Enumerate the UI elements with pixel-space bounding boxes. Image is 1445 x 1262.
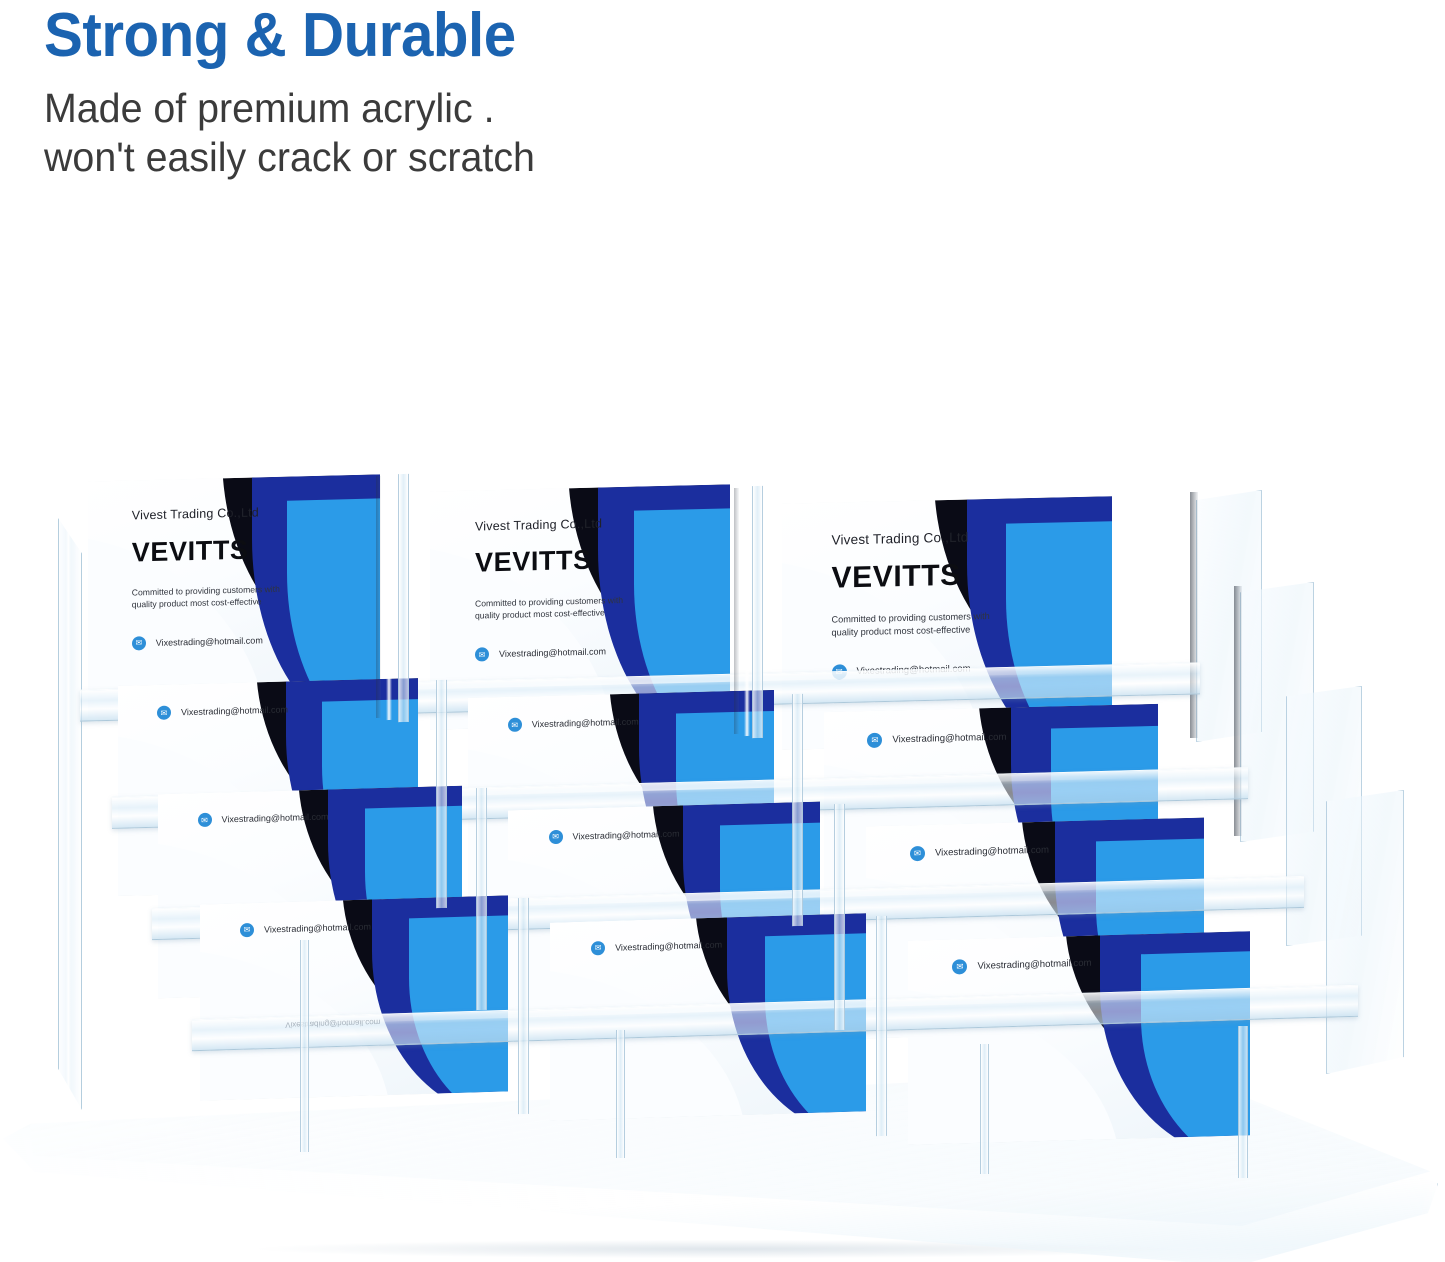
envelope-icon: ✉ bbox=[867, 732, 882, 747]
card-tagline: Committed to providing customers with qu… bbox=[832, 610, 990, 640]
base-support-leg bbox=[980, 1044, 989, 1174]
card-email-row: ✉ Vixestrading@hotmail.com bbox=[910, 843, 1049, 862]
card-email-row: ✉ Vixestrading@hotmail.com bbox=[157, 702, 288, 719]
envelope-icon: ✉ bbox=[549, 829, 563, 843]
headline-block: Strong & Durable Made of premium acrylic… bbox=[44, 4, 944, 182]
page-title: Strong & Durable bbox=[44, 4, 890, 68]
column-divider-fin bbox=[834, 804, 845, 1030]
card-tagline: Committed to providing customers with qu… bbox=[132, 583, 280, 611]
card-email: Vixestrading@hotmail.com bbox=[499, 646, 606, 659]
card-company-name: Vivest Trading Co.,Ltd bbox=[132, 506, 259, 523]
column-divider-fin bbox=[518, 898, 529, 1114]
left-side-panel bbox=[58, 518, 82, 1110]
right-step-panel-4 bbox=[1326, 790, 1404, 1074]
card-email-row: ✉ Vixestrading@hotmail.com bbox=[591, 937, 722, 955]
card-text-layer: ✉ Vixestrading@hotmail.com bbox=[200, 895, 508, 1100]
card-email-row: ✉ Vixestrading@hotmail.com bbox=[475, 644, 606, 661]
card-tagline: Committed to providing customers with qu… bbox=[475, 594, 623, 622]
card-email-row: ✉ Vixestrading@hotmail.com bbox=[198, 810, 329, 828]
card-email: Vixestrading@hotmail.com bbox=[532, 717, 639, 730]
card-email: Vixestrading@hotmail.com bbox=[181, 704, 288, 717]
column-divider-fin bbox=[398, 474, 409, 722]
card-pocket[interactable]: ✉ Vixestrading@hotmail.com bbox=[908, 931, 1250, 1145]
card-brand: VEVITTS bbox=[475, 545, 592, 579]
card-email: Vixestrading@hotmail.com bbox=[892, 731, 1006, 745]
column-divider-fin bbox=[792, 694, 803, 926]
column-divider-fin bbox=[436, 680, 447, 908]
base-support-leg bbox=[616, 1030, 625, 1158]
card-brand: VEVITTS bbox=[132, 534, 249, 568]
card-brand: VEVITTS bbox=[832, 559, 961, 596]
envelope-icon: ✉ bbox=[132, 636, 146, 650]
card-email-row: ✉ Vixestrading@hotmail.com bbox=[549, 826, 680, 844]
card-pocket[interactable]: ✉ Vixestrading@hotmail.com bbox=[200, 895, 508, 1100]
base-support-leg bbox=[1238, 1026, 1248, 1178]
card-email-row: ✉ Vixestrading@hotmail.com bbox=[132, 633, 263, 650]
card-email-row: ✉ Vixestrading@hotmail.com bbox=[508, 715, 639, 732]
card-email: Vixestrading@hotmail.com bbox=[222, 812, 329, 825]
card-email: Vixestrading@hotmail.com bbox=[264, 921, 371, 934]
base-support-leg bbox=[300, 940, 309, 1152]
card-email: Vixestrading@hotmail.com bbox=[156, 635, 263, 648]
card-email: Vixestrading@hotmail.com bbox=[935, 845, 1049, 859]
card-email-row: ✉ Vixestrading@hotmail.com bbox=[867, 729, 1006, 747]
page-subtitle: Made of premium acrylic . won't easily c… bbox=[44, 84, 908, 182]
card-email-row: ✉ Vixestrading@hotmail.com bbox=[952, 956, 1091, 975]
card-email-row: ✉ Vixestrading@hotmail.com bbox=[240, 919, 371, 937]
card-email: Vixestrading@hotmail.com bbox=[573, 828, 680, 841]
column-divider-fin bbox=[476, 788, 487, 1010]
column-divider-fin bbox=[752, 486, 763, 738]
envelope-icon: ✉ bbox=[198, 813, 212, 827]
envelope-icon: ✉ bbox=[240, 923, 254, 937]
envelope-icon: ✉ bbox=[591, 941, 605, 955]
column-divider-fin bbox=[876, 916, 887, 1136]
envelope-icon: ✉ bbox=[952, 960, 967, 975]
envelope-icon: ✉ bbox=[157, 706, 171, 720]
envelope-icon: ✉ bbox=[910, 846, 925, 861]
envelope-icon: ✉ bbox=[508, 718, 522, 732]
business-card: ✉ Vixestrading@hotmail.com bbox=[908, 931, 1250, 1145]
product-photo: Vivest Trading Co.,Ltd VEVITTS Committed… bbox=[0, 430, 1445, 1262]
card-email: Vixestrading@hotmail.com bbox=[977, 958, 1091, 972]
business-card: ✉ Vixestrading@hotmail.com bbox=[200, 895, 508, 1100]
card-company-name: Vivest Trading Co.,Ltd bbox=[832, 529, 969, 547]
card-email: Vixestrading@hotmail.com bbox=[615, 939, 722, 952]
envelope-icon: ✉ bbox=[475, 647, 489, 661]
card-company-name: Vivest Trading Co.,Ltd bbox=[475, 516, 602, 533]
card-text-layer: ✉ Vixestrading@hotmail.com bbox=[908, 931, 1250, 1145]
